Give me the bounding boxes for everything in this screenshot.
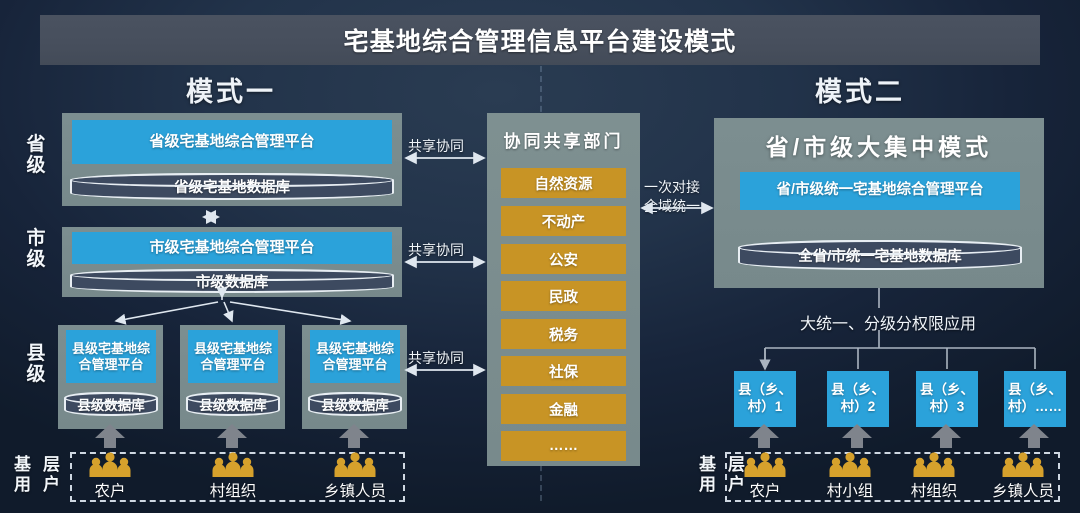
mode2-county-box-4[interactable]: 县（乡、 村）…… (1004, 371, 1066, 427)
user-mode2-2[interactable]: 村组织 (886, 452, 982, 501)
user-mode2-label-0: 农户 (717, 479, 813, 501)
mode2-county-4-l1: 县（乡、 (1008, 382, 1062, 397)
county-database-2[interactable]: 县级数据库 (186, 392, 280, 416)
shared-departments-title: 协同共享部门 (487, 127, 640, 152)
connector-label-line2: 全域统一 (644, 197, 700, 216)
share-label-county: 共享协同 (408, 348, 464, 368)
department-item-1[interactable]: 不动产 (501, 206, 626, 236)
department-item-5[interactable]: 社保 (501, 356, 626, 386)
rail-label-city: 市 级 (16, 228, 56, 271)
rail-label-province: 省 级 (16, 134, 56, 177)
county-platform-1[interactable]: 县级宅基地综合管理平台 (66, 330, 156, 383)
city-platform[interactable]: 市级宅基地综合管理平台 (72, 232, 392, 264)
mode2-unified-platform[interactable]: 省/市级统一宅基地综合管理平台 (740, 172, 1020, 210)
rail-label-grassroot-left: 基 层 用 户 (8, 455, 66, 494)
diagram-canvas: 宅基地综合管理信息平台建设模式 模式一 模式二 省 级 市 级 县 级 基 层 … (0, 0, 1080, 513)
user-group-icon (912, 452, 956, 478)
user-mode1-0[interactable]: 农户 (62, 452, 158, 501)
department-item-7[interactable]: …… (501, 431, 626, 461)
city-database[interactable]: 市级数据库 (70, 269, 394, 293)
rail-grass-left-0: 基 (8, 455, 37, 475)
mode2-county-box-1[interactable]: 县（乡、 村）1 (734, 371, 796, 427)
user-mode1-label-2: 乡镇人员 (307, 479, 403, 501)
user-mode2-3[interactable]: 乡镇人员 (975, 452, 1071, 501)
mode2-county-box-2-text: 县（乡、 村）2 (831, 382, 885, 416)
mode2-county-1-l1: 县（乡、 (738, 382, 792, 397)
user-mode1-2[interactable]: 乡镇人员 (307, 452, 403, 501)
user-mode1-label-1: 村组织 (185, 479, 281, 501)
mode2-county-3-l2: 村）3 (930, 399, 965, 414)
mode2-county-4-l2: 村）…… (1008, 399, 1062, 414)
user-group-icon (211, 452, 255, 478)
mode2-county-box-3[interactable]: 县（乡、 村）3 (916, 371, 978, 427)
user-group-icon (743, 452, 787, 478)
mode2-county-2-l1: 县（乡、 (831, 382, 885, 397)
rail-label-province-line2: 级 (16, 155, 56, 176)
user-mode1-1[interactable]: 村组织 (185, 452, 281, 501)
rail-label-city-line2: 级 (16, 249, 56, 270)
share-label-city: 共享协同 (408, 240, 464, 260)
page-title-bar: 宅基地综合管理信息平台建设模式 (40, 15, 1040, 65)
department-item-6[interactable]: 金融 (501, 394, 626, 424)
province-platform[interactable]: 省级宅基地综合管理平台 (72, 120, 392, 164)
share-label-province: 共享协同 (408, 136, 464, 156)
department-item-3[interactable]: 民政 (501, 281, 626, 311)
user-mode2-0[interactable]: 农户 (717, 452, 813, 501)
mode2-county-box-1-text: 县（乡、 村）1 (738, 382, 792, 416)
arrow-city-to-counties (116, 297, 350, 321)
mode2-unified-database[interactable]: 全省/市统一宅基地数据库 (738, 240, 1022, 270)
county-database-3[interactable]: 县级数据库 (308, 392, 402, 416)
mode2-county-2-l2: 村）2 (841, 399, 876, 414)
mode2-county-box-4-text: 县（乡、 村）…… (1008, 382, 1062, 416)
mode2-county-3-l1: 县（乡、 (920, 382, 974, 397)
rail-label-county: 县 级 (16, 343, 56, 386)
mode2-heading: 省/市级大集中模式 (714, 128, 1044, 162)
connector-label-mode2: 一次对接 全域统一 (644, 178, 700, 216)
user-mode2-label-1: 村小组 (802, 479, 898, 501)
county-database-1[interactable]: 县级数据库 (64, 392, 158, 416)
mode2-county-1-l2: 村）1 (748, 399, 783, 414)
page-title: 宅基地综合管理信息平台建设模式 (343, 22, 736, 58)
department-item-2[interactable]: 公安 (501, 244, 626, 274)
rail-label-county-line1: 县 (16, 343, 56, 364)
county-platform-2[interactable]: 县级宅基地综合管理平台 (188, 330, 278, 383)
user-group-icon (88, 452, 132, 478)
mode2-county-box-3-text: 县（乡、 村）3 (920, 382, 974, 416)
mode2-distribution-label: 大统一、分级分权限应用 (800, 310, 976, 334)
user-mode2-1[interactable]: 村小组 (802, 452, 898, 501)
connector-label-line1: 一次对接 (644, 178, 700, 197)
mode-one-title: 模式一 (186, 70, 276, 109)
arrows-users-to-counties-mode2 (749, 424, 1049, 448)
department-item-0[interactable]: 自然资源 (501, 168, 626, 198)
province-database[interactable]: 省级宅基地数据库 (70, 173, 394, 200)
mode-two-title: 模式二 (815, 70, 905, 109)
rail-label-county-line2: 级 (16, 364, 56, 385)
mode2-county-box-2[interactable]: 县（乡、 村）2 (827, 371, 889, 427)
user-mode1-label-0: 农户 (62, 479, 158, 501)
rail-grass-left-2: 用 (8, 475, 37, 495)
department-item-4[interactable]: 税务 (501, 319, 626, 349)
rail-label-province-line1: 省 (16, 134, 56, 155)
rail-label-city-line1: 市 (16, 228, 56, 249)
user-mode2-label-2: 村组织 (886, 479, 982, 501)
user-group-icon (1001, 452, 1045, 478)
user-group-icon (828, 452, 872, 478)
user-mode2-label-3: 乡镇人员 (975, 479, 1071, 501)
user-group-icon (333, 452, 377, 478)
county-platform-3[interactable]: 县级宅基地综合管理平台 (310, 330, 400, 383)
